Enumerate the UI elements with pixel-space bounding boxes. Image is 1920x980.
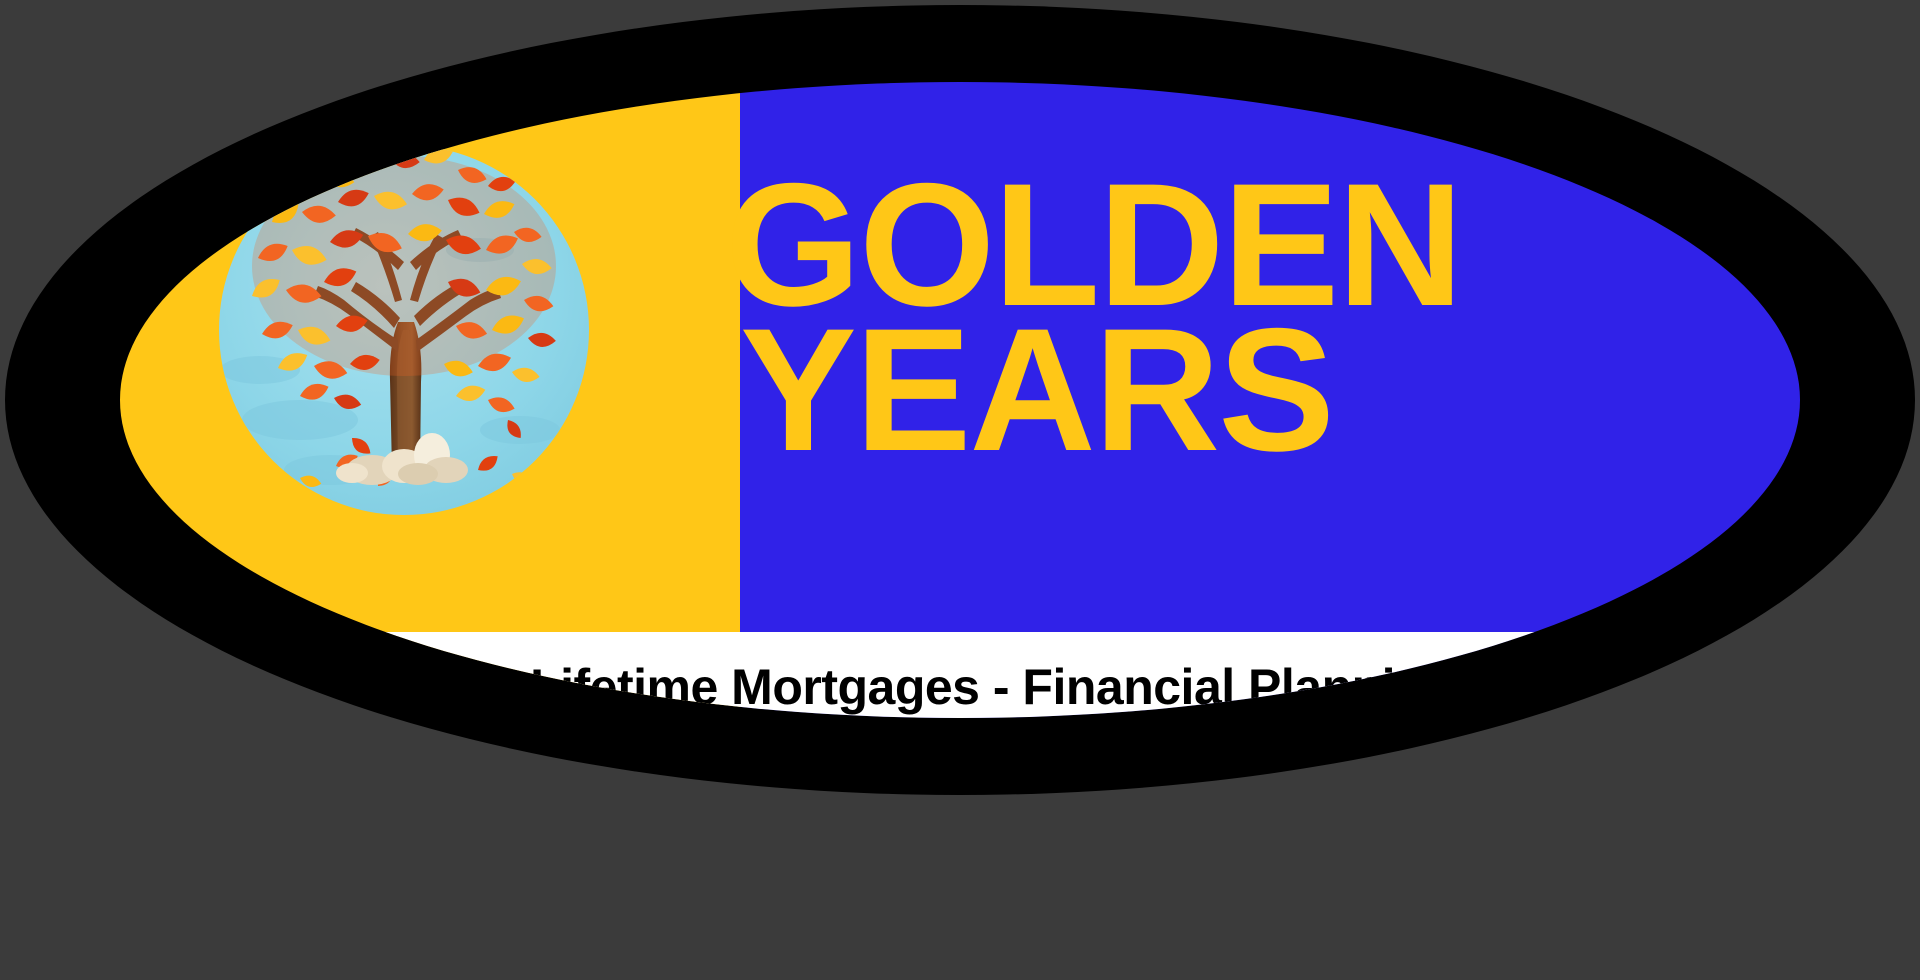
golden-years-logo: GOLDEN YEARS Equity Release - Lifetime M… — [0, 0, 1920, 980]
brand-line-2: YEARS — [740, 293, 1333, 488]
logo-canvas: GOLDEN YEARS Equity Release - Lifetime M… — [0, 0, 1920, 980]
